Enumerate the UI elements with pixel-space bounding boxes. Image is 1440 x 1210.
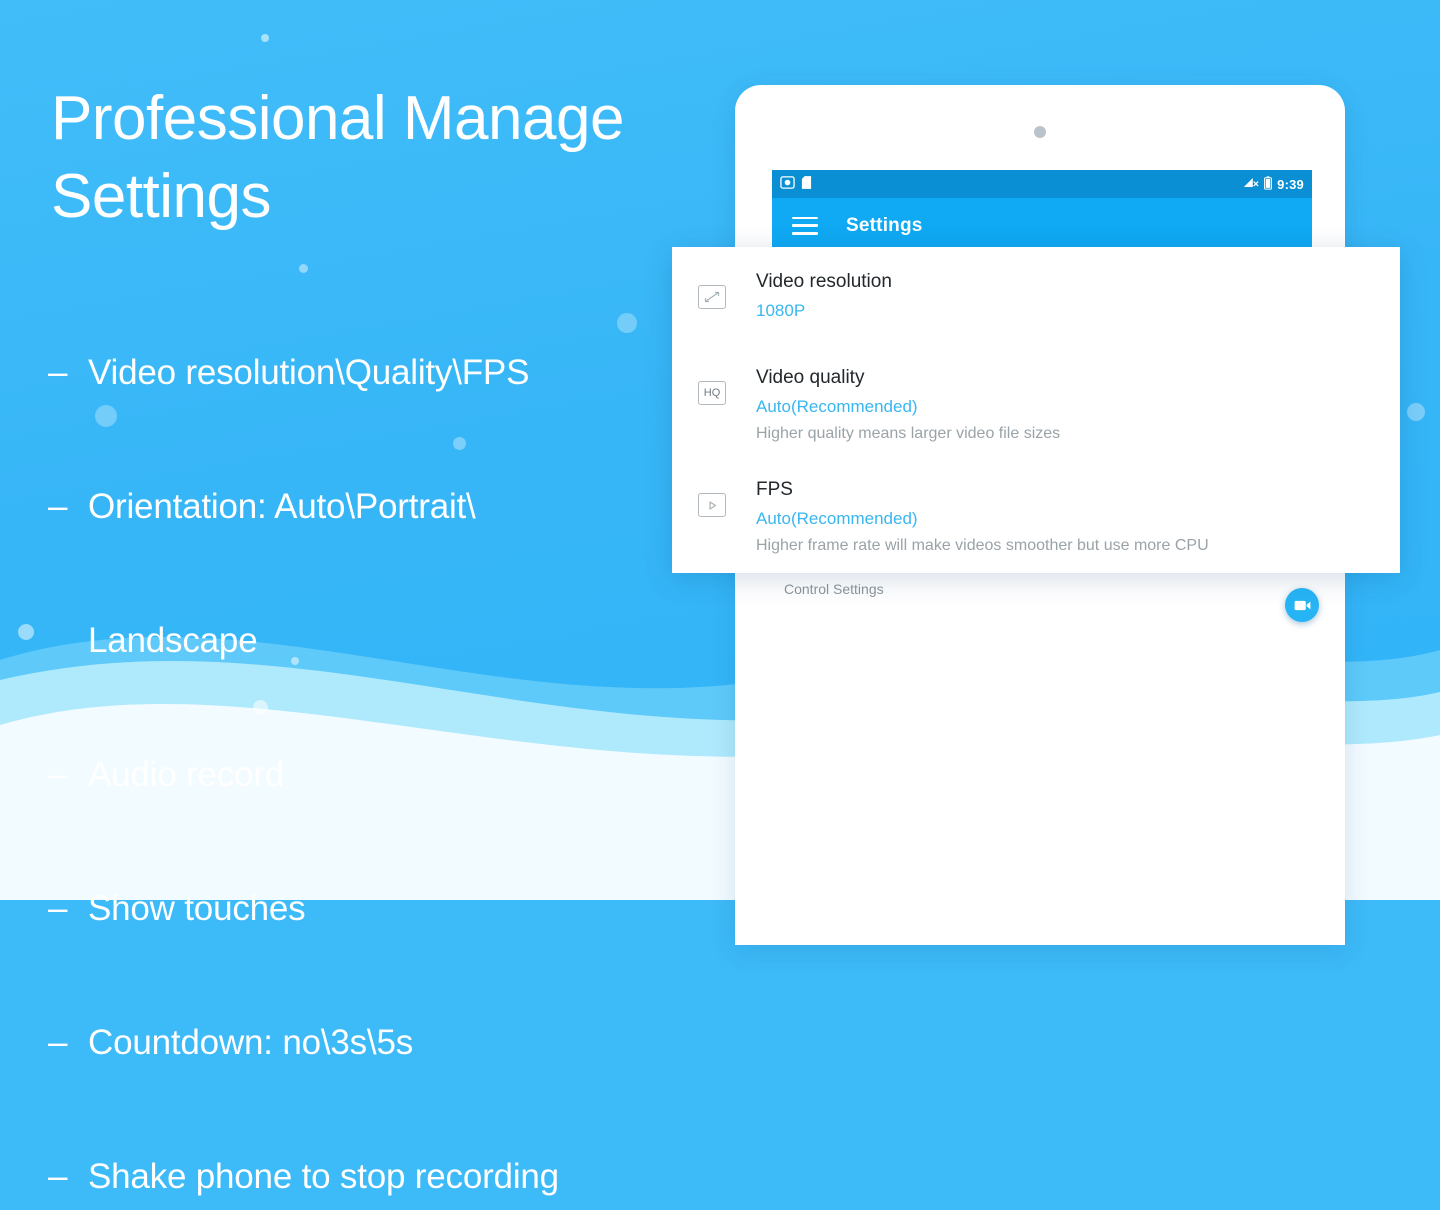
overlay-row-title: FPS (756, 475, 1380, 505)
overlay-row-video-resolution[interactable]: Video resolution 1080P (672, 247, 1400, 325)
bullet-dash: – (48, 473, 88, 540)
list-item: –Countdown: no\3s\5s (48, 942, 748, 1076)
record-fab-button[interactable] (1285, 588, 1319, 622)
list-item: –Orientation: Auto\Portrait\ (48, 406, 748, 540)
overlay-row-value: Auto(Recommended) (756, 393, 1380, 421)
list-item: –Shake phone to stop recording (48, 1076, 748, 1210)
list-item: Landscape (48, 540, 748, 674)
list-item-label: Orientation: Auto\Portrait\ (88, 487, 476, 526)
overlay-row-fps[interactable]: FPS Auto(Recommended) Higher frame rate … (672, 447, 1400, 559)
overlay-row-value: 1080P (756, 297, 1380, 325)
bullet-dash: – (48, 1143, 88, 1210)
bullet-dash: – (48, 1009, 88, 1076)
status-bar-clock: 9:39 (1277, 177, 1304, 192)
feature-list: –Video resolution\Quality\FPS –Orientati… (48, 272, 748, 1210)
status-bar: 9:39 (772, 170, 1312, 198)
list-item-label: Countdown: no\3s\5s (88, 1023, 413, 1062)
list-item-label: Shake phone to stop recording (88, 1157, 559, 1196)
bullet-dash: – (48, 741, 88, 808)
bullet-dash: – (48, 875, 88, 942)
app-bar: Settings (772, 198, 1312, 253)
list-item-label: Landscape (88, 621, 257, 660)
list-item-label: Video resolution\Quality\FPS (88, 353, 529, 392)
hamburger-menu-icon[interactable] (792, 217, 818, 235)
list-item: –Audio record (48, 674, 748, 808)
sd-card-icon (801, 175, 812, 193)
list-item-label: Show touches (88, 889, 305, 928)
record-camera-icon (1294, 599, 1311, 612)
decor-dot (1407, 403, 1425, 421)
screen-recorder-icon (780, 175, 795, 193)
front-camera-icon (1034, 126, 1046, 138)
settings-detail-overlay-card: Video resolution 1080P HQ Video quality … (672, 247, 1400, 573)
overlay-row-value: Auto(Recommended) (756, 505, 1380, 533)
hq-quality-icon-label: HQ (698, 381, 726, 405)
overlay-row-hint: Higher quality means larger video file s… (756, 421, 1380, 447)
battery-icon (1264, 176, 1272, 193)
hq-quality-icon: HQ (698, 363, 756, 405)
overlay-row-video-quality[interactable]: HQ Video quality Auto(Recommended) Highe… (672, 325, 1400, 447)
list-item-label: Audio record (88, 755, 284, 794)
list-item: –Video resolution\Quality\FPS (48, 272, 748, 406)
app-bar-title: Settings (846, 215, 923, 237)
resolution-icon (698, 267, 756, 309)
overlay-row-hint: Higher frame rate will make videos smoot… (756, 533, 1380, 559)
decor-dot (261, 34, 269, 42)
no-signal-icon (1243, 176, 1259, 192)
bullet-dash: – (48, 339, 88, 406)
list-item: –Show touches (48, 808, 748, 942)
overlay-row-title: Video quality (756, 363, 1380, 393)
fps-play-icon (698, 475, 756, 517)
overlay-row-title: Video resolution (756, 267, 1380, 297)
page-title: Professional Manage Settings (51, 80, 711, 236)
